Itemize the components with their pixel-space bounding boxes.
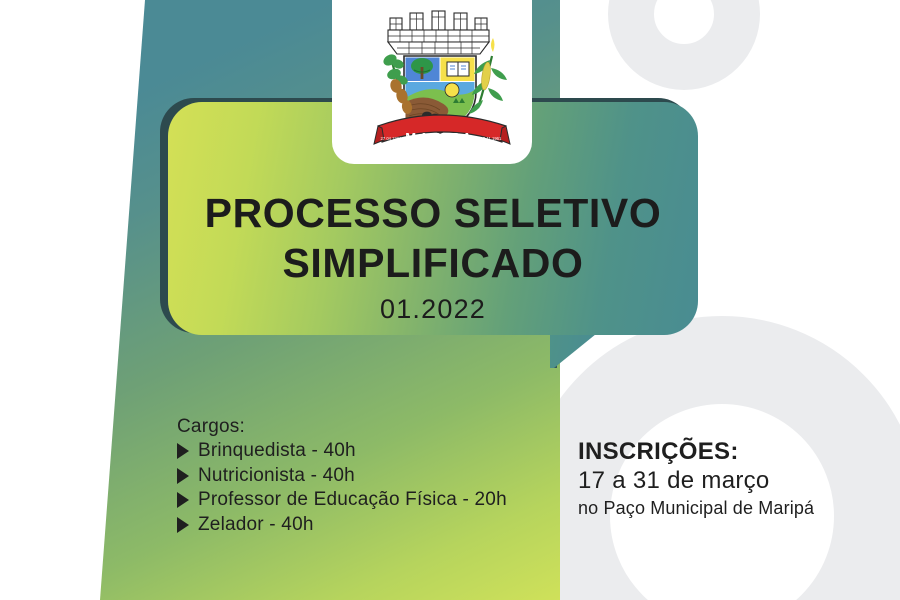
page-title-edition: 01.2022 bbox=[168, 290, 698, 328]
decorative-ring-top-right bbox=[608, 0, 760, 90]
svg-text:15 11 1961: 15 11 1961 bbox=[481, 136, 502, 141]
svg-text:MARIPA: MARIPA bbox=[405, 130, 475, 145]
inscricoes-place: no Paço Municipal de Maripá bbox=[578, 496, 814, 520]
page-title-line-1: PROCESSO SELETIVO bbox=[168, 188, 698, 238]
triangle-right-icon bbox=[177, 492, 189, 508]
svg-text:27 04 1961: 27 04 1961 bbox=[381, 136, 403, 141]
inscricoes-block: INSCRIÇÕES: 17 a 31 de março no Paço Mun… bbox=[578, 437, 814, 520]
decorative-bubble-small bbox=[0, 56, 13, 69]
page-title-line-2: SIMPLIFICADO bbox=[168, 238, 698, 288]
headline-block: PROCESSO SELETIVO SIMPLIFICADO 01.2022 bbox=[168, 188, 698, 328]
poster-canvas: MARIPA 27 04 1961 15 11 1961 PROCESSO SE… bbox=[0, 0, 900, 600]
speech-bubble-tail bbox=[550, 332, 596, 368]
cargo-label: Professor de Educação Física - 20h bbox=[198, 488, 507, 513]
list-item: Brinquedista - 40h bbox=[177, 439, 507, 464]
decorative-bubble-large bbox=[18, 35, 62, 79]
triangle-right-icon bbox=[177, 517, 189, 533]
cargo-label: Brinquedista - 40h bbox=[198, 439, 356, 464]
inscricoes-dates: 17 a 31 de março bbox=[578, 466, 814, 496]
cargo-label: Nutricionista - 40h bbox=[198, 464, 355, 489]
cargos-block: Cargos: Brinquedista - 40h Nutricionista… bbox=[177, 415, 507, 537]
list-item: Nutricionista - 40h bbox=[177, 464, 507, 489]
decorative-bubble-medium bbox=[12, 28, 36, 52]
cargos-heading: Cargos: bbox=[177, 415, 507, 439]
list-item: Professor de Educação Física - 20h bbox=[177, 488, 507, 513]
triangle-right-icon bbox=[177, 468, 189, 484]
triangle-right-icon bbox=[177, 443, 189, 459]
list-item: Zelador - 40h bbox=[177, 513, 507, 538]
coat-of-arms-icon: MARIPA 27 04 1961 15 11 1961 bbox=[352, 2, 512, 154]
cargos-list: Brinquedista - 40h Nutricionista - 40h P… bbox=[177, 439, 507, 537]
cargo-label: Zelador - 40h bbox=[198, 513, 314, 538]
inscricoes-heading: INSCRIÇÕES: bbox=[578, 437, 814, 466]
